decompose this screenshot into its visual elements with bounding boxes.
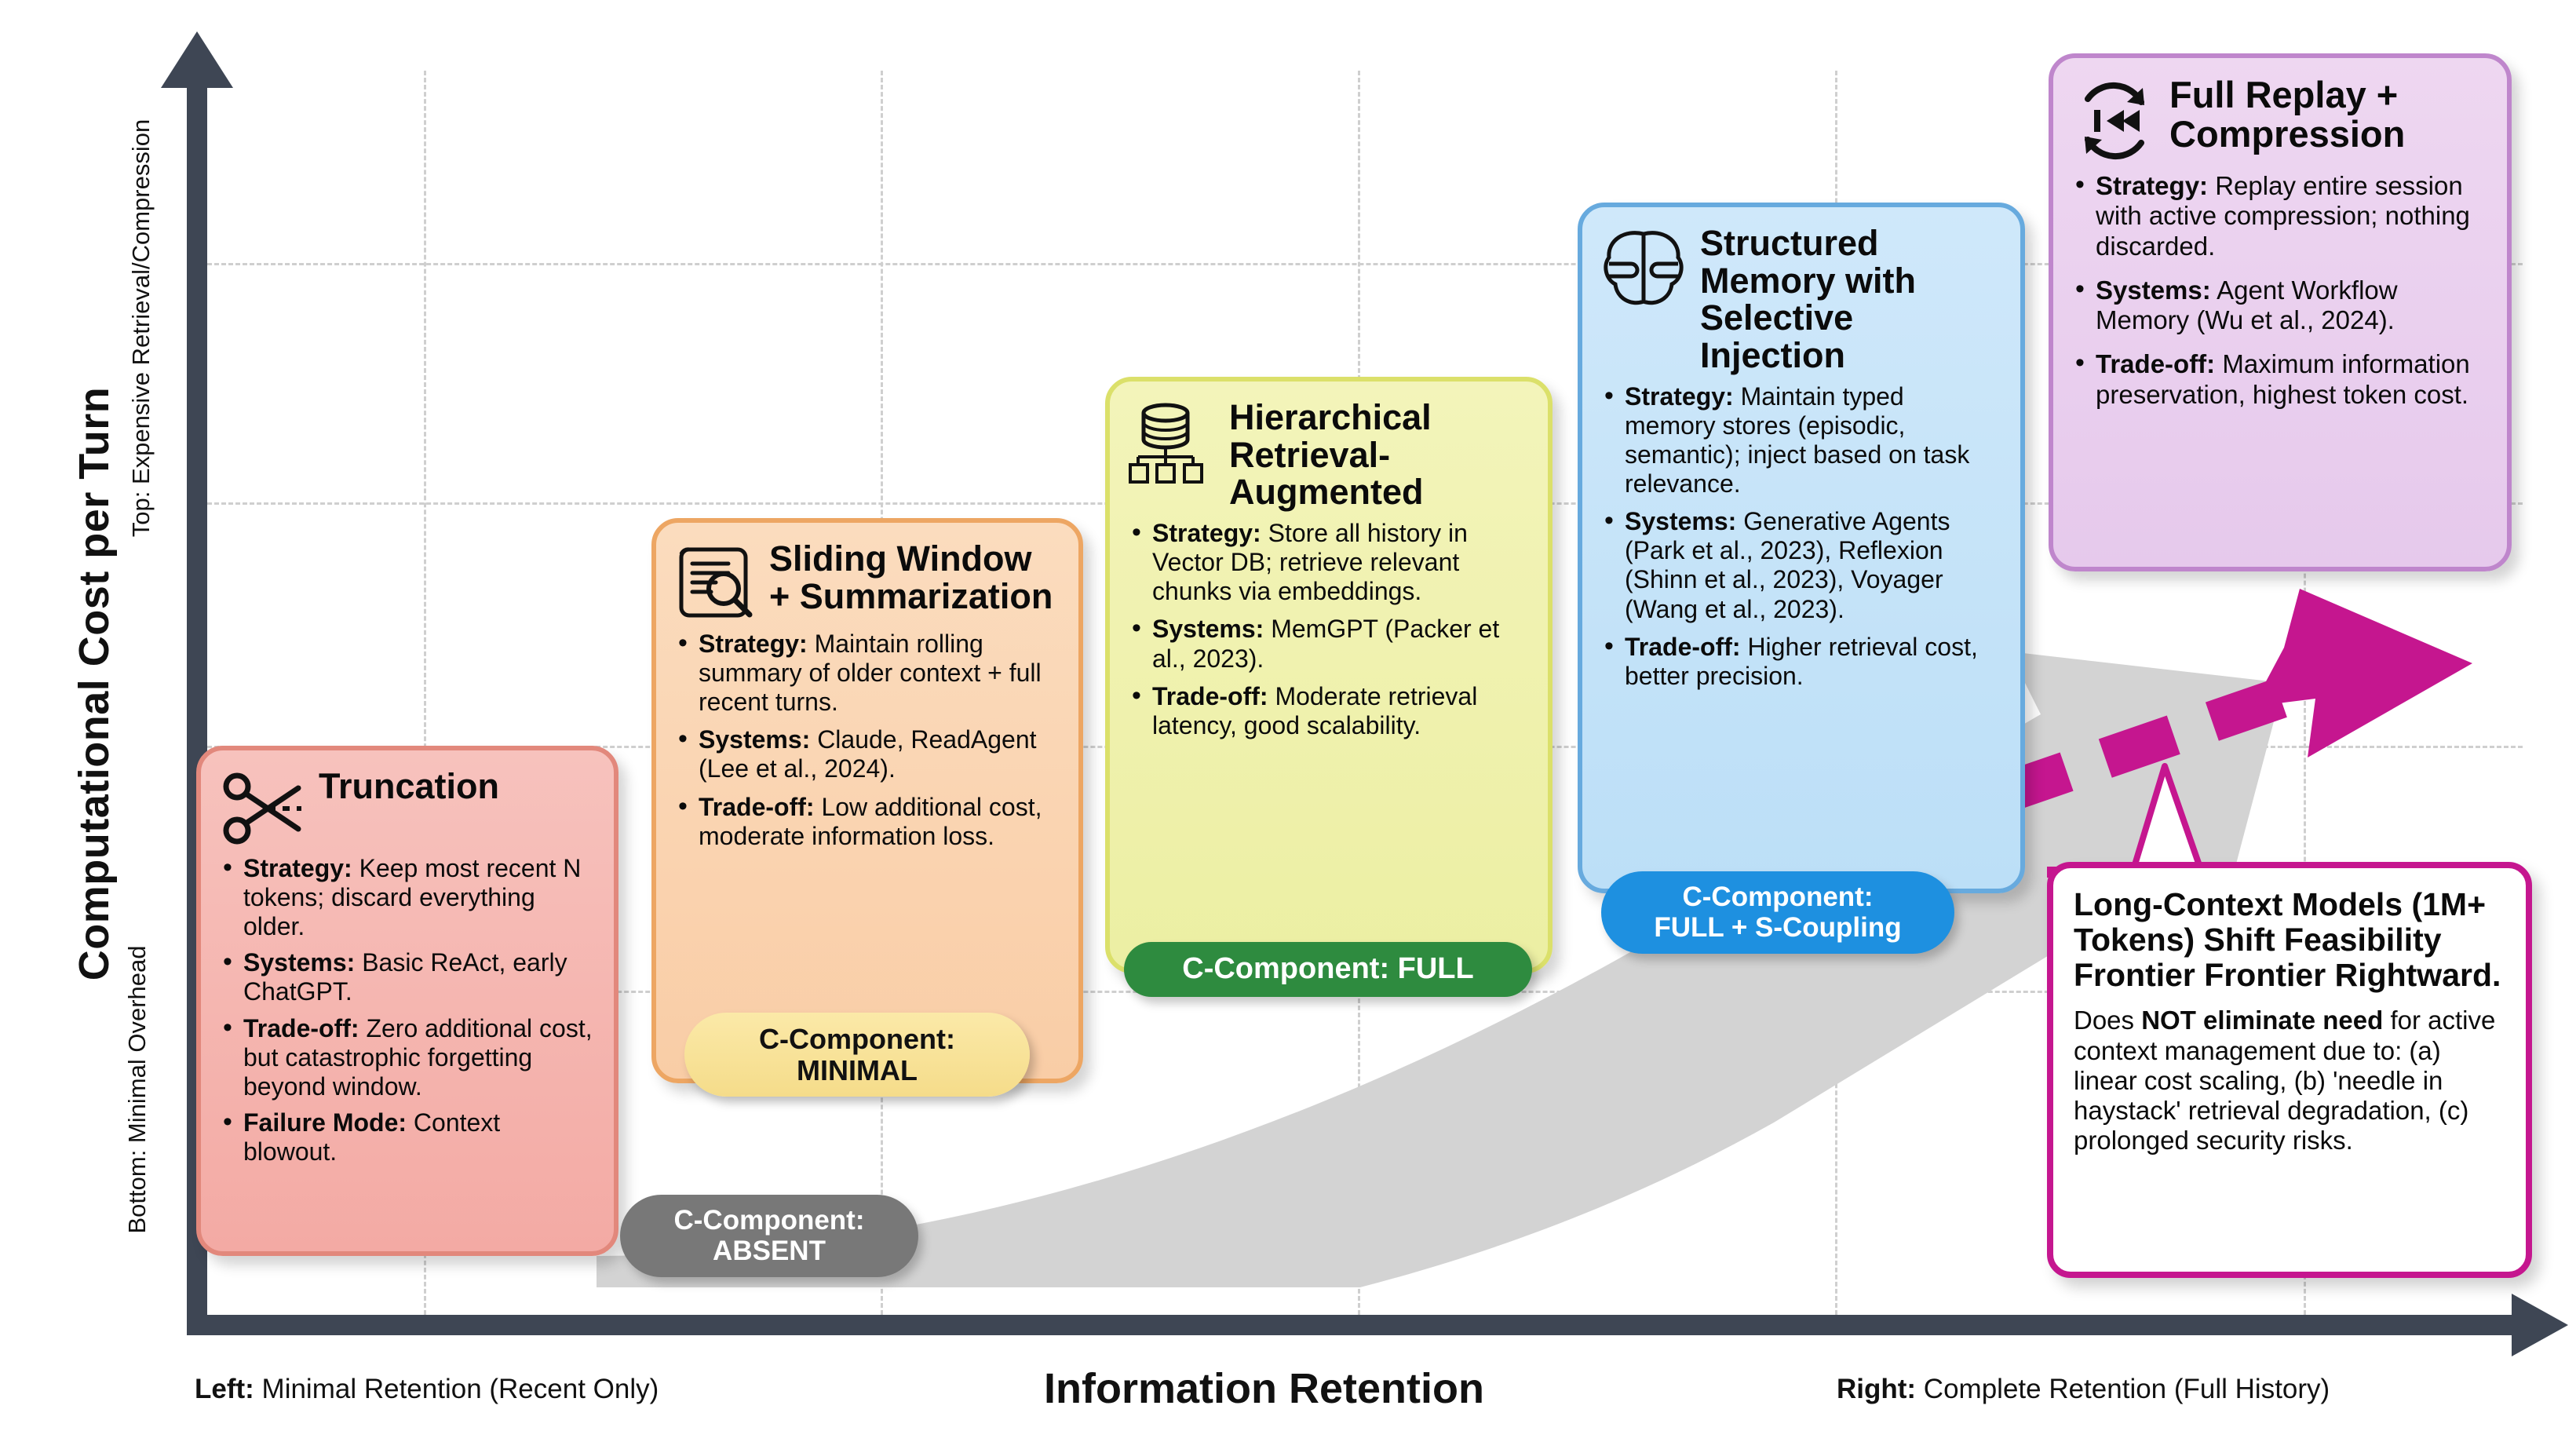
bullet-label: Trade-off: (2096, 349, 2215, 378)
bullet-label: Trade-off: (1152, 682, 1268, 710)
list-item: Failure Mode: Context blowout. (220, 1108, 595, 1166)
list-item: Systems: Claude, ReadAgent (Lee et al., … (675, 725, 1060, 783)
badge-line-2: MINIMAL (705, 1055, 1009, 1086)
bullet-label: Strategy: (2096, 171, 2208, 200)
list-item: Strategy: Keep most recent N tokens; dis… (220, 854, 595, 941)
callout-body-emphasis: NOT eliminate need (2141, 1006, 2383, 1035)
x-axis-arrowhead (2512, 1294, 2568, 1356)
x-axis-right-label: Right: Complete Retention (Full History) (1837, 1374, 2330, 1405)
bullet-label: Strategy: (1625, 382, 1734, 411)
list-item: Trade-off: Moderate retrieval latency, g… (1129, 682, 1529, 740)
bullet-label: Trade-off: (243, 1014, 359, 1042)
list-item: Systems: Agent Workflow Memory (Wu et al… (2072, 276, 2488, 336)
card-title: Structured Memory with Selective Injecti… (1700, 225, 2001, 374)
list-item: Trade-off: Low additional cost, moderate… (675, 793, 1060, 851)
card-hierarchical-retrieval[interactable]: Hierarchical Retrieval-Augmented Strateg… (1105, 377, 1553, 973)
card-structured-memory[interactable]: Structured Memory with Selective Injecti… (1578, 203, 2025, 893)
brain-puzzle-icon (1601, 228, 1688, 312)
card-title: Truncation (319, 768, 499, 805)
x-left-prefix: Left: (195, 1374, 254, 1404)
badge-c-component-absent: C-Component: ABSENT (620, 1195, 918, 1277)
badge-line-2: FULL + S-Coupling (1622, 913, 1934, 944)
bullet-label: Trade-off: (699, 793, 815, 821)
badge-line-1: C-Component: FULL (1144, 953, 1512, 986)
diagram-canvas: Computational Cost per Turn Top: Expensi… (0, 0, 2576, 1442)
list-item: Strategy: Replay entire session with act… (2072, 171, 2488, 261)
list-item: Systems: Basic ReAct, early ChatGPT. (220, 948, 595, 1006)
y-axis-arrowhead (161, 31, 233, 88)
bullet-label: Systems: (243, 948, 355, 977)
card-title: Sliding Window + Summarization (769, 540, 1060, 615)
list-item: Strategy: Store all history in Vector DB… (1129, 519, 1529, 606)
card-bullet-list: Strategy: Keep most recent N tokens; dis… (220, 854, 595, 1166)
list-item: Strategy: Maintain rolling summary of ol… (675, 630, 1060, 717)
y-axis-bottom-label: Bottom: Minimal Overhead (123, 870, 151, 1309)
card-sliding-window[interactable]: Sliding Window + Summarization Strategy:… (651, 518, 1083, 1083)
x-right-prefix: Right: (1837, 1374, 1916, 1404)
y-axis-top-label: Top: Expensive Retrieval/Compression (127, 77, 155, 579)
badge-c-component-minimal: C-Component: MINIMAL (684, 1013, 1030, 1097)
list-item: Systems: MemGPT (Packer et al., 2023). (1129, 615, 1529, 673)
x-axis-left-label: Left: Minimal Retention (Recent Only) (195, 1374, 659, 1405)
scroll-magnifier-icon (675, 543, 757, 622)
bullet-label: Trade-off: (1625, 633, 1741, 661)
x-axis-title: Information Retention (1044, 1364, 1484, 1413)
replay-rewind-icon (2072, 78, 2157, 163)
badge-c-component-full-s-coupling: C-Component: FULL + S-Coupling (1601, 871, 1954, 954)
bullet-label: Systems: (1152, 615, 1264, 643)
card-title: Full Replay + Compression (2169, 75, 2488, 154)
callout-body: Does NOT eliminate need for active conte… (2074, 1006, 2505, 1155)
card-truncation[interactable]: Truncation Strategy: Keep most recent N … (196, 746, 618, 1256)
list-item: Systems: Generative Agents (Park et al.,… (1601, 507, 2001, 623)
x-right-text: Complete Retention (Full History) (1916, 1374, 2330, 1404)
card-header: Sliding Window + Summarization (675, 540, 1060, 622)
bullet-label: Systems: (2096, 276, 2211, 305)
card-bullet-list: Strategy: Maintain typed memory stores (… (1601, 382, 2001, 691)
card-header: Full Replay + Compression (2072, 75, 2488, 163)
card-header: Truncation (220, 768, 595, 846)
card-bullet-list: Strategy: Replay entire session with act… (2072, 171, 2488, 410)
list-item: Strategy: Maintain typed memory stores (… (1601, 382, 2001, 498)
badge-c-component-full: C-Component: FULL (1124, 942, 1532, 997)
card-full-replay[interactable]: Full Replay + Compression Strategy: Repl… (2049, 53, 2512, 571)
y-axis-title: Computational Cost per Turn (70, 354, 119, 1013)
bullet-label: Strategy: (243, 854, 352, 882)
badge-line-2: ABSENT (640, 1236, 898, 1267)
callout-long-context-models[interactable]: Long-Context Models (1M+ Tokens) Shift F… (2047, 862, 2532, 1278)
bullet-label: Systems: (699, 725, 810, 754)
list-item: Trade-off: Maximum information preservat… (2072, 349, 2488, 410)
bullet-label: Strategy: (699, 630, 808, 658)
card-bullet-list: Strategy: Store all history in Vector DB… (1129, 519, 1529, 740)
bullet-label: Strategy: (1152, 519, 1261, 547)
x-axis-line (187, 1315, 2534, 1335)
card-header: Structured Memory with Selective Injecti… (1601, 225, 2001, 374)
bullet-label: Failure Mode: (243, 1108, 407, 1137)
x-left-text: Minimal Retention (Recent Only) (254, 1374, 659, 1404)
card-title: Hierarchical Retrieval-Augmented (1229, 399, 1529, 511)
callout-body-pre: Does (2074, 1006, 2141, 1035)
card-header: Hierarchical Retrieval-Augmented (1129, 399, 1529, 511)
database-tree-icon (1129, 402, 1217, 484)
list-item: Trade-off: Higher retrieval cost, better… (1601, 633, 2001, 691)
badge-line-1: C-Component: (705, 1024, 1009, 1055)
scissors-icon (220, 771, 306, 846)
card-bullet-list: Strategy: Maintain rolling summary of ol… (675, 630, 1060, 851)
bullet-label: Systems: (1625, 507, 1736, 535)
badge-line-1: C-Component: (640, 1206, 898, 1236)
badge-line-1: C-Component: (1622, 882, 1934, 913)
callout-pointer-spike (2047, 760, 2298, 878)
list-item: Trade-off: Zero additional cost, but cat… (220, 1014, 595, 1101)
callout-title: Long-Context Models (1M+ Tokens) Shift F… (2074, 887, 2505, 993)
